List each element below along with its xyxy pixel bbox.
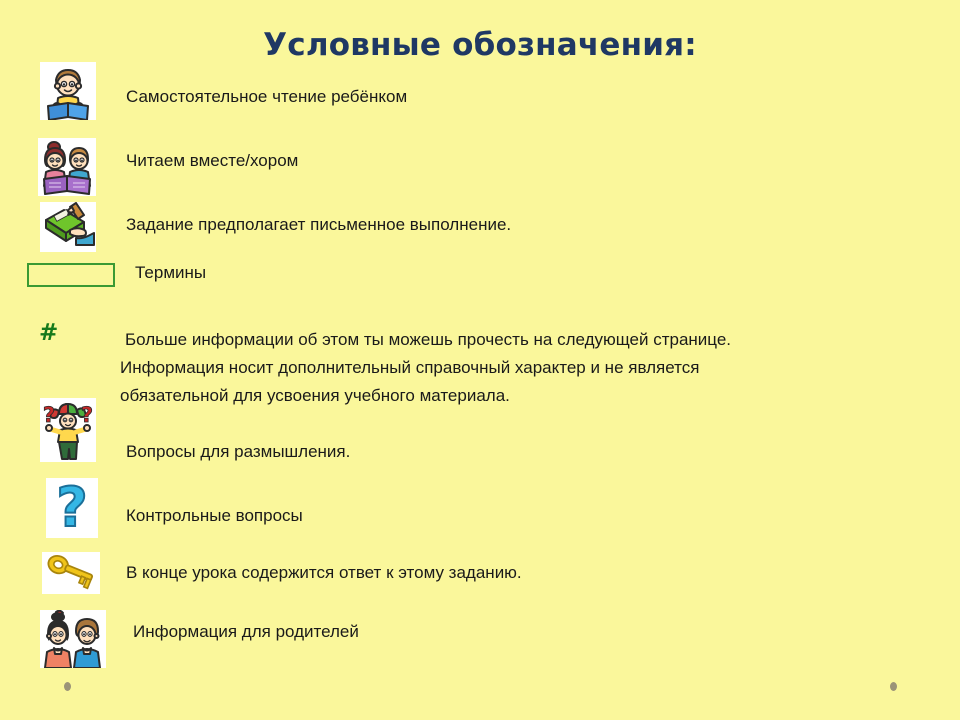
extra-info-line-2: Информация носит дополнительный справочн… [120, 354, 920, 382]
blue-question-mark-icon: ? [46, 478, 98, 538]
legend-label-terms: Термины [135, 264, 206, 283]
page-title: Условные обозначения: [0, 27, 960, 63]
legend-label-read-together: Читаем вместе/хором [126, 152, 298, 171]
footer-dot-left [64, 682, 71, 691]
legend-label-parents-info: Информация для родителей [133, 623, 359, 642]
svg-text:?: ? [56, 478, 87, 538]
boy-with-question-marks-icon: ? ? [40, 398, 96, 462]
legend-label-control-questions: Контрольные вопросы [126, 507, 303, 526]
svg-text:?: ? [81, 403, 93, 427]
extra-info-line-1: Больше информации об этом ты можешь проч… [120, 326, 920, 354]
footer-dot-right [890, 682, 897, 691]
slide-canvas: Условные обозначения: [0, 0, 960, 720]
empty-green-box-icon [27, 263, 115, 287]
extra-info-paragraph: Больше информации об этом ты можешь проч… [120, 326, 920, 410]
parents-icon [40, 610, 106, 668]
legend-label-answer-key: В конце урока содержится ответ к этому з… [126, 564, 522, 583]
notebook-and-pencil-icon [40, 202, 96, 252]
child-reading-book-icon [40, 62, 96, 120]
svg-text:?: ? [43, 403, 55, 427]
two-children-reading-icon [38, 138, 96, 196]
legend-label-reflection-questions: Вопросы для размышления. [126, 443, 350, 462]
legend-label-self-reading: Самостоятельное чтение ребёнком [126, 88, 407, 107]
golden-key-icon [42, 552, 100, 594]
legend-label-written-task: Задание предполагает письменное выполнен… [126, 216, 511, 235]
hash-icon: # [39, 322, 58, 345]
extra-info-line-3: обязательной для усвоения учебного матер… [120, 382, 920, 410]
